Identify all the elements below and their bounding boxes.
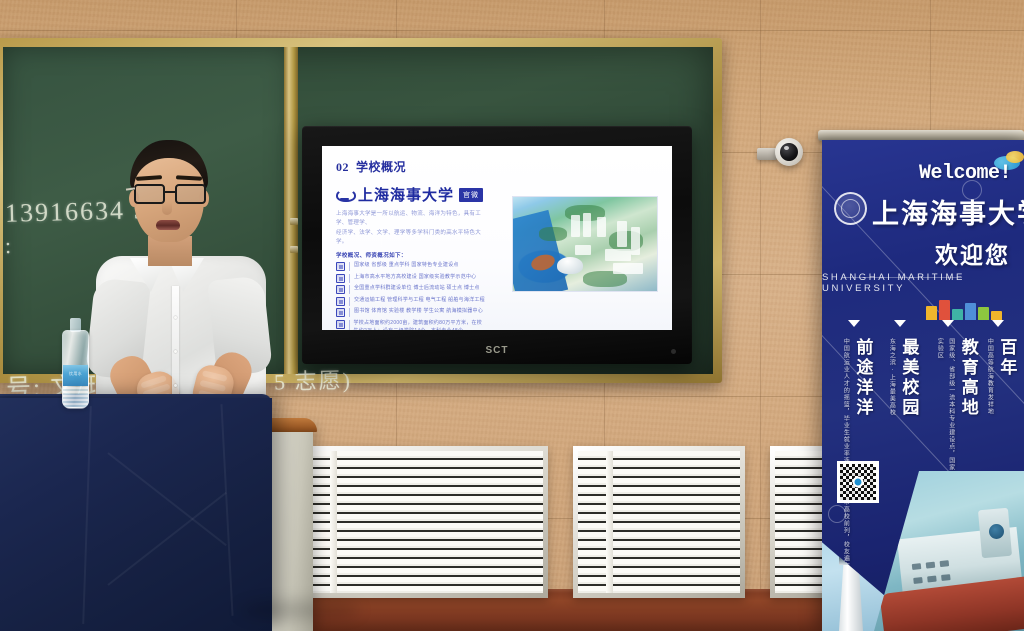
- slide-bullet-list: 国家级 省部级 重点学科 国家特色专业建设点 上海市高水平地方高校建设 国家级实…: [336, 262, 486, 330]
- security-camera-icon: [775, 138, 803, 166]
- wall-tile-seam: [0, 30, 1024, 31]
- bullet-icon: [336, 308, 345, 317]
- lectern-shadow: [240, 600, 360, 620]
- vent-slats: [775, 451, 827, 593]
- banner-university-name-en: SHANGHAI MARITIME UNIVERSITY: [822, 272, 1012, 294]
- photo-building: [617, 221, 627, 247]
- camera-mount-bracket: [757, 148, 777, 160]
- bullet-icon: [336, 285, 345, 294]
- bullet-text: 国家级 省部级 重点学科 国家特色专业建设点: [354, 262, 459, 270]
- vent-slats: [288, 451, 543, 593]
- qr-code-icon[interactable]: [837, 461, 879, 503]
- banner-column-marker: [992, 320, 1004, 327]
- list-item: 上海市高水平地方高校建设 国家级实验教学示范中心: [336, 274, 486, 283]
- bullet-divider: [349, 285, 350, 294]
- banner-city-skyline-icon: [926, 300, 1002, 320]
- bullet-divider: [349, 308, 350, 317]
- photo-building: [631, 227, 640, 255]
- banner-column-marker: [942, 320, 954, 327]
- list-item: 学校占地面积约2000亩，建筑面积约80万平方米，在校生约2万人；设有二级学院1…: [336, 320, 486, 330]
- wall-mounted-display[interactable]: 02 学校概况 上海海事大学 官微 上海海事大学是一所以航运、物流、海洋为特色，…: [302, 126, 692, 364]
- vent-slats: [578, 451, 740, 593]
- classroom-scene: 13916634 5 : 号: 文/理 . + 2、5 志愿) 02 学校概况 …: [0, 0, 1024, 631]
- wall-air-vent-grille: [573, 446, 745, 598]
- list-item: 图书馆 体育馆 实验楼 教学楼 学生公寓 航海模拟器中心: [336, 308, 486, 317]
- roll-up-banner: Welcome! 上海海事大学 欢迎您 SHANGHAI MARITIME UN…: [822, 140, 1024, 631]
- eyeglasses-icon: [130, 184, 210, 204]
- photo-greenery: [539, 227, 567, 241]
- photo-building: [583, 213, 591, 237]
- draped-tablecloth: 海 上: [0, 398, 272, 631]
- camera-glint: [784, 146, 789, 150]
- university-seal-icon: [834, 192, 867, 225]
- camera-lens: [780, 143, 798, 161]
- banner-column-heading: 最美校园: [896, 338, 921, 418]
- banner-column-body: 东海之滨 · 上海最美高校: [885, 338, 896, 418]
- bullet-icon: [336, 320, 345, 329]
- banner-column-heading: 百年: [994, 338, 1019, 415]
- bottle-label-text: 饮用水: [63, 371, 88, 377]
- bullet-text: 图书馆 体育馆 实验楼 教学楼 学生公寓 航海模拟器中心: [354, 308, 483, 316]
- university-logo-icon: [336, 188, 353, 202]
- list-item: 国家级 省部级 重点学科 国家特色专业建设点: [336, 262, 486, 271]
- banner-column-0: 百年 中国高等航海教育发祥地: [980, 338, 1019, 415]
- bullet-divider: [349, 320, 350, 330]
- presenter-mouth: [156, 220, 180, 230]
- photo-building: [575, 245, 591, 255]
- slide-section-title: 学校概况: [356, 158, 406, 175]
- display-ir-sensor: [671, 349, 676, 354]
- bullet-divider: [349, 274, 350, 283]
- wall-air-vent-grille: [283, 446, 548, 598]
- slide-section-header: 02 学校概况: [336, 158, 658, 175]
- photo-building: [613, 263, 643, 274]
- chalk-tray-clip: [290, 246, 298, 253]
- slide-university-name: 上海海事大学: [358, 184, 454, 205]
- glasses-lens-left: [134, 184, 165, 204]
- glasses-lens-right: [175, 184, 206, 204]
- display-screen: 02 学校概况 上海海事大学 官微 上海海事大学是一所以航运、物流、海洋为特色，…: [322, 146, 672, 330]
- photo-building: [571, 215, 580, 237]
- qr-center-logo: [853, 477, 864, 488]
- presentation-slide: 02 学校概况 上海海事大学 官微 上海海事大学是一所以航运、物流、海洋为特色，…: [322, 146, 672, 330]
- slide-subtitle-line-1: 上海海事大学是一所以航运、物流、海洋为特色，具有工学、管理学、: [336, 210, 482, 229]
- bullet-divider: [349, 262, 350, 271]
- wall-tile-seam: [760, 0, 761, 631]
- water-bottle[interactable]: 饮用水: [62, 330, 89, 408]
- presenter-nose: [162, 202, 172, 215]
- bullet-text: 交通运输工程 管理科学与工程 电气工程 船舶与海洋工程: [354, 297, 485, 305]
- photo-building: [605, 249, 631, 261]
- vent-mullion: [606, 451, 613, 593]
- bottle-label: 饮用水: [63, 365, 88, 386]
- blackboard-divider: [284, 47, 298, 374]
- banner-welcome-en: Welcome!: [919, 162, 1011, 185]
- list-item: 全国重点学科群建设单位 博士后流动站 硕士点 博士点: [336, 285, 486, 294]
- campus-aerial-photo: [512, 196, 658, 292]
- bullet-icon: [336, 274, 345, 283]
- photo-building: [597, 217, 606, 237]
- bullet-icon: [336, 262, 345, 271]
- slide-section-number: 02: [336, 160, 349, 175]
- banner-photo-ship: [874, 471, 1024, 631]
- banner-welcome-cn: 欢迎您: [935, 236, 1010, 270]
- chalk-tray-clip: [290, 218, 298, 225]
- photo-water: [512, 210, 568, 292]
- list-item: 交通运输工程 管理科学与工程 电气工程 船舶与海洋工程: [336, 297, 486, 306]
- bullet-text: 学校占地面积约2000亩，建筑面积约80万平方米，在校生约2万人；设有二级学院1…: [354, 320, 486, 330]
- photo-dome-building: [557, 257, 583, 274]
- ship-funnel-badge: [989, 524, 1004, 539]
- banner-column-marker: [848, 320, 860, 327]
- banner-column-2: 最美校园 东海之滨 · 上海最美高校: [882, 338, 921, 418]
- bullet-text: 全国重点学科群建设单位 博士后流动站 硕士点 博士点: [354, 285, 480, 293]
- banner-column-body: 中国高等航海教育发祥地: [983, 338, 994, 415]
- bullet-divider: [349, 297, 350, 306]
- bottle-ribs: [63, 387, 88, 409]
- slide-badge: 官微: [459, 188, 483, 202]
- vent-mullion: [330, 451, 337, 593]
- bullet-icon: [336, 297, 345, 306]
- bullet-text: 上海市高水平地方高校建设 国家级实验教学示范中心: [354, 274, 476, 282]
- display-brand-label: SCT: [486, 345, 509, 356]
- glasses-bridge: [165, 191, 175, 193]
- slide-subtitle-line-2: 经济学、法学、文学、理学等多学科门类的高水平特色大学。: [336, 229, 482, 248]
- banner-university-name: 上海海事大学: [872, 192, 1024, 231]
- banner-column-marker: [894, 320, 906, 327]
- chalk-text-colon: :: [5, 233, 14, 259]
